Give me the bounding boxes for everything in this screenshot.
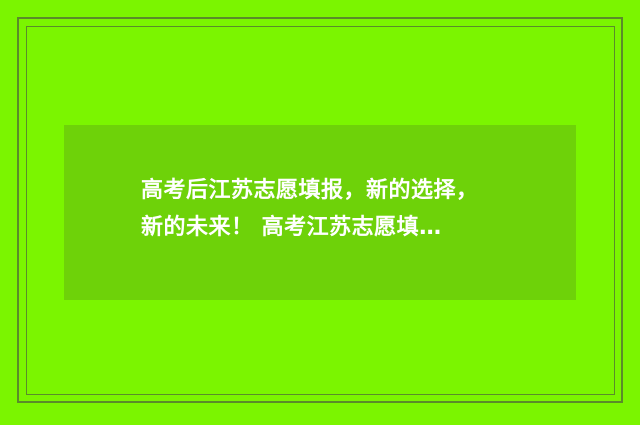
caption-text: 高考后江苏志愿填报，新的选择， 新的未来！ 高考江苏志愿填… (141, 172, 541, 246)
caption-panel: 高考后江苏志愿填报，新的选择， 新的未来！ 高考江苏志愿填… (64, 125, 576, 300)
banner-root: 高考后江苏志愿填报，新的选择， 新的未来！ 高考江苏志愿填… (0, 0, 640, 425)
